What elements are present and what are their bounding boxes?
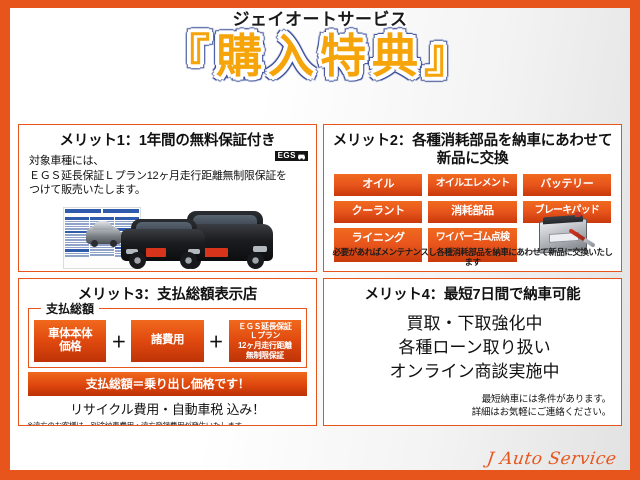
merit4-item-trade-in: 買取・下取強化中 [330,312,615,336]
plus-operator-2: ＋ [208,320,225,362]
parts-diagram-header [64,208,140,216]
merit4-title: メリット4：最短7日間で納車可能 [330,286,615,304]
chip-oil-element[interactable]: オイルエレメント [428,174,516,196]
kei-car-wheel [129,252,146,269]
merit4-note-line2: 詳細はお気軽にご連絡ください。 [472,407,611,420]
car-icon-svg [297,152,306,160]
formula-box-fees: 諸費用 [131,320,203,362]
merit4-item-online-consultation: オンライン商談実施中 [330,360,615,384]
chip-battery[interactable]: バッテリー [523,174,611,196]
egs-badge: EGS [275,151,308,161]
formula-box-egs-line4: 無制限保証 [238,351,292,361]
formula-box-egs-line1: ＥＧＳ延長保証 [238,322,292,332]
merit1-title: メリット1：1年間の無料保証付き [25,132,310,150]
merit4-service-list: 買取・下取強化中 各種ローン取り扱い オンライン商談実施中 [330,312,615,384]
formula-box-vehicle-price-line1: 車体本体 [48,328,92,342]
chip-oil[interactable]: オイル [334,174,422,196]
price-formula: 車体本体 価格 ＋ 諸費用 ＋ ＥＧＳ延長保証 Ｌプラン 12ヶ月走行距離 [34,320,301,362]
merit-panel-4: メリット4：最短7日間で納車可能 買取・下取強化中 各種ローン取り扱い オンライ… [323,278,622,426]
merit2-note: 必要があればメンテナンスし各種消耗部品を納車にあわせて新品に交換いたします [330,248,615,267]
total-price-banner: 支払総額＝乗り出し価格です！ [28,372,307,396]
merit-grid: メリット1：1年間の無料保証付き EGS 対象車種には、 ＥＧＳ延長保証Ｌプラン… [18,124,622,426]
chip-consumable-parts[interactable]: 消耗部品 [428,201,516,223]
merit1-body-line2: ＥＧＳ延長保証Ｌプラン12ヶ月走行距離無制限保証を [29,169,310,184]
merit1-images [25,207,310,269]
car-icon [297,152,306,160]
kei-car-plate [146,248,166,257]
page-title: 『購入特典』 [10,32,630,82]
formula-box-egs-warranty: ＥＧＳ延長保証 Ｌプラン 12ヶ月走行距離 無制限保証 [229,320,301,362]
merit-panel-1: メリット1：1年間の無料保証付き EGS 対象車種には、 ＥＧＳ延長保証Ｌプラン… [18,124,317,272]
formula-box-vehicle-price: 車体本体 価格 [34,320,106,362]
merit4-note-line1: 最短納車には条件があります。 [472,394,611,407]
poster-sheet: ジェイオートサービス 『購入特典』 メリット1：1年間の無料保証付き EGS [10,8,630,470]
merit1-body-line1: 対象車種には、 [29,154,310,169]
total-payment-fieldset: 支払総額 車体本体 価格 ＋ 諸費用 ＋ [28,308,307,368]
diagram-sedan-icon [86,226,122,244]
merit-panel-3: メリット3：支払総額表示店 支払総額 車体本体 価格 ＋ 諸費用 ＋ [18,278,317,426]
plus-operator-1: ＋ [110,320,127,362]
merit4-note: 最短納車には条件があります。 詳細はお気軽にご連絡ください。 [472,394,611,420]
kei-car-wheel [180,252,197,269]
included-fees-text: リサイクル費用・自動車税 込み！ [25,399,310,418]
merit3-fineprint: ※遠方のお客様は、別途納車費用・遠方登録費用が発生いたします。 ※保証内容につき… [27,421,310,426]
merit1-body-line3: つけて販売いたします。 [29,183,310,198]
chip-coolant[interactable]: クーラント [334,201,422,223]
formula-box-egs-line2: Ｌプラン [238,331,292,341]
parts-diagram-column [65,217,89,267]
merit-panel-2: メリット2：各種消耗部品を納車にあわせて新品に交換 オイル オイルエレメント バ… [323,124,622,272]
merit1-body: 対象車種には、 ＥＧＳ延長保証Ｌプラン12ヶ月走行距離無制限保証を つけて販売い… [29,154,310,198]
kei-car-wheel [247,252,264,269]
merit2-title: メリット2：各種消耗部品を納車にあわせて新品に交換 [330,132,615,168]
kei-car-image-left [121,217,205,269]
formula-box-vehicle-price-line2: 価格 [48,341,92,355]
total-payment-legend: 支払総額 [41,300,99,317]
merit4-item-loans: 各種ローン取り扱い [330,336,615,360]
formula-box-egs-line3: 12ヶ月走行距離 [238,341,292,351]
kei-car-plate [204,248,228,257]
company-signature: J Auto Service [485,449,617,469]
egs-badge-label: EGS [278,152,296,160]
brand-name: ジェイオートサービス [10,11,630,30]
poster-root: ジェイオートサービス 『購入特典』 メリット1：1年間の無料保証付き EGS [0,0,640,480]
merit3-fineprint-line1: ※遠方のお客様は、別途納車費用・遠方登録費用が発生いたします。 [27,421,310,426]
poster-header: ジェイオートサービス 『購入特典』 [10,8,630,81]
